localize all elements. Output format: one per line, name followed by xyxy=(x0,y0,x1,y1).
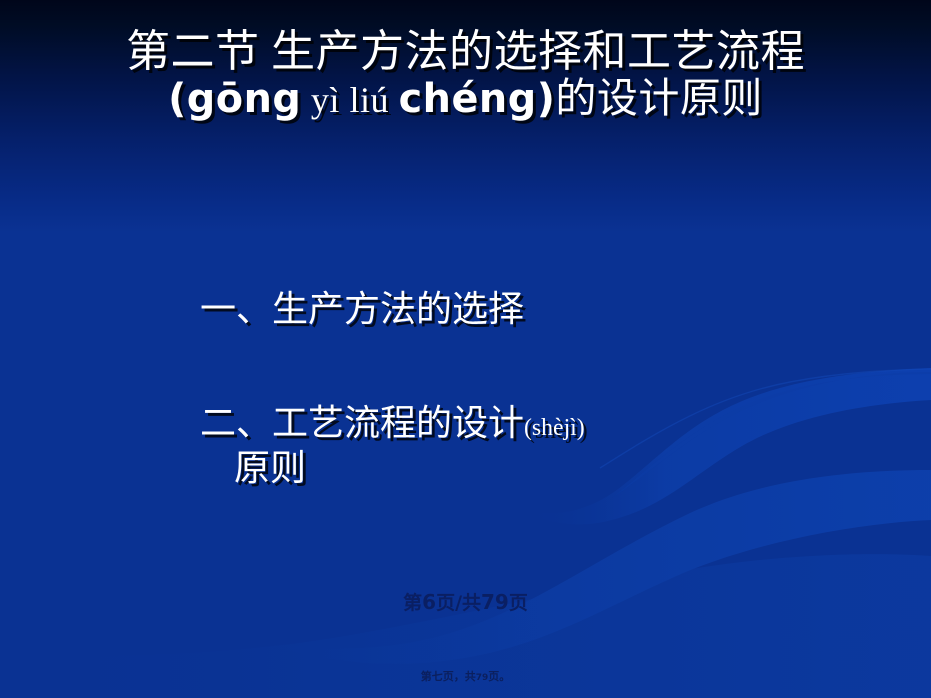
footnote-prefix: 第七页，共 xyxy=(421,670,476,683)
footnote-suffix: 页。 xyxy=(488,670,510,683)
body-item-1: 一、生产方法的选择 xyxy=(200,288,840,330)
title-pinyin-open: ( xyxy=(168,76,187,122)
page-counter-total: 79 xyxy=(481,590,509,614)
slide-footnote: 第七页，共79页。 xyxy=(0,668,931,684)
body-item-2: 二、工艺流程的设计(shèjì) xyxy=(200,402,840,444)
slide-body: 一、生产方法的选择 二、工艺流程的设计(shèjì) 原则 xyxy=(200,288,840,491)
presentation-slide: 第二节 生产方法的选择和工艺流程 (gōng yì liú chéng)的设计原… xyxy=(0,0,931,698)
page-counter-prefix: 第 xyxy=(403,592,422,614)
slide-title: 第二节 生产方法的选择和工艺流程 (gōng yì liú chéng)的设计原… xyxy=(0,28,931,120)
title-pinyin-cheng: chéng xyxy=(399,76,537,122)
body-item-2-pinyin: (shèjì) xyxy=(524,415,585,441)
title-pinyin-gong: gōng xyxy=(187,76,302,122)
body-item-2-continuation: 原则 xyxy=(200,445,840,491)
body-item-2-text: 二、工艺流程的设计 xyxy=(200,403,524,443)
page-counter-suffix: 页 xyxy=(509,592,528,614)
footnote-total: 79 xyxy=(476,673,489,683)
title-line-2-tail: 的设计原则 xyxy=(555,75,763,121)
title-pinyin-liu: liú xyxy=(349,80,398,120)
page-counter: 第6页/共79页 xyxy=(0,588,931,615)
title-pinyin-close: ) xyxy=(537,76,556,122)
title-pinyin-yi: yì xyxy=(301,80,349,120)
page-counter-mid: 页/共 xyxy=(436,592,481,614)
page-counter-current: 6 xyxy=(422,590,436,614)
slide-title-line-2: (gōng yì liú chéng)的设计原则 xyxy=(0,76,931,121)
slide-title-line-1: 第二节 生产方法的选择和工艺流程 xyxy=(0,28,931,76)
